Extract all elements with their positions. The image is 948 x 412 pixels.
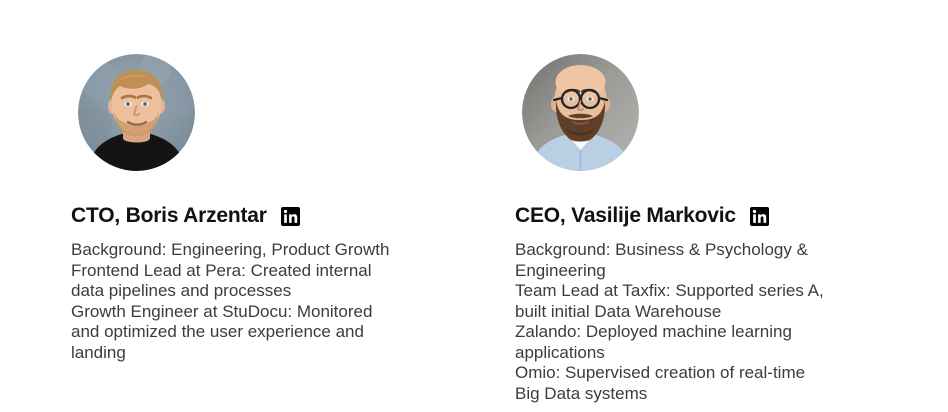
profile-bio: Background: Engineering, Product Growth … (71, 240, 431, 363)
bio-line: Big Data systems (515, 384, 875, 405)
profile-card-cto: CTO, Boris Arzentar Background: Engineer… (66, 0, 498, 412)
linkedin-icon[interactable] (750, 207, 769, 226)
bio-line: Background: Engineering, Product Growth (71, 240, 431, 261)
profile-bio: Background: Business & Psychology & Engi… (515, 240, 875, 404)
avatar (522, 54, 639, 171)
bio-line: Team Lead at Taxfix: Supported series A, (515, 281, 875, 302)
bio-line: data pipelines and processes (71, 281, 431, 302)
person-name: CEO, Vasilije Markovic (515, 204, 736, 228)
bio-line: Growth Engineer at StuDocu: Monitored (71, 302, 431, 323)
bio-line: built initial Data Warehouse (515, 302, 875, 323)
bio-line: Zalando: Deployed machine learning (515, 322, 875, 343)
bio-line: Frontend Lead at Pera: Created internal (71, 261, 431, 282)
avatar (78, 54, 195, 171)
avatar-photo-vasilije-icon (522, 54, 639, 171)
profile-name-row: CEO, Vasilije Markovic (515, 204, 942, 228)
avatar-photo-boris-icon (78, 54, 195, 171)
linkedin-icon[interactable] (281, 207, 300, 226)
bio-line: landing (71, 343, 431, 364)
person-name: CTO, Boris Arzentar (71, 204, 267, 228)
profiles-row: CTO, Boris Arzentar Background: Engineer… (0, 0, 948, 412)
bio-line: Omio: Supervised creation of real-time (515, 363, 875, 384)
bio-line: applications (515, 343, 875, 364)
profile-card-ceo: CEO, Vasilije Markovic Background: Busin… (510, 0, 942, 412)
profile-name-row: CTO, Boris Arzentar (71, 204, 498, 228)
team-profiles-page: CTO, Boris Arzentar Background: Engineer… (0, 0, 948, 412)
bio-line: Engineering (515, 261, 875, 282)
bio-line: Background: Business & Psychology & (515, 240, 875, 261)
bio-line: and optimized the user experience and (71, 322, 431, 343)
